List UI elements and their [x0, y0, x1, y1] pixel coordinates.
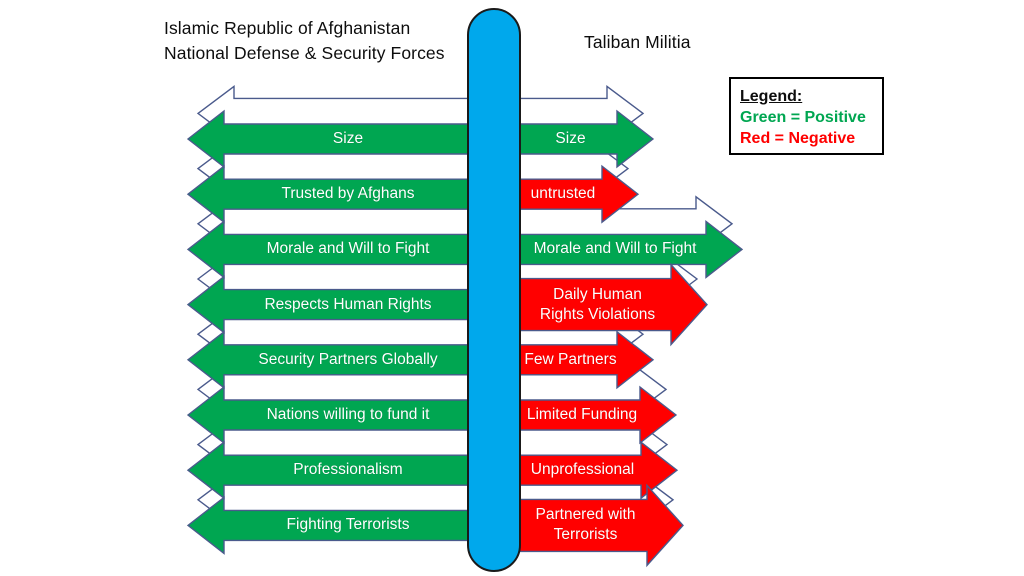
- comparison-arrow-right-7: [516, 442, 677, 498]
- comparison-arrow-left-6: [188, 387, 472, 443]
- comparison-arrow-left-8: [188, 497, 472, 553]
- white-spacer-arrow-left: [198, 252, 472, 306]
- white-spacer-arrow-left: [198, 197, 472, 251]
- legend-box: Legend: Green = Positive Red = Negative: [729, 77, 884, 155]
- white-spacer-arrow-right: [516, 86, 643, 140]
- comparison-arrow-left-2: [188, 166, 472, 222]
- white-spacer-arrow-left: [198, 86, 472, 140]
- white-spacer-arrow-left: [198, 418, 472, 472]
- comparison-arrow-right-2: [516, 166, 638, 222]
- comparison-arrow-left-7: [188, 442, 472, 498]
- arrow-label-left-7: Professionalism: [198, 444, 498, 496]
- comparison-arrow-right-6: [516, 387, 676, 443]
- white-spacer-arrow-left: [198, 473, 472, 527]
- white-spacer-arrow-right: [516, 473, 673, 527]
- comparison-arrow-right-1: [516, 111, 653, 167]
- arrow-label-left-6: Nations willing to fund it: [198, 389, 498, 441]
- arrow-label-left-3: Morale and Will to Fight: [198, 223, 498, 275]
- arrow-label-right-4: Daily HumanRights Violations: [500, 279, 695, 331]
- center-divider-pill: [467, 8, 521, 572]
- arrow-label-right-7: Unprofessional: [500, 444, 665, 496]
- white-spacer-arrow-right: [516, 307, 643, 361]
- legend-positive-entry: Green = Positive: [740, 107, 882, 128]
- arrow-label-left-2: Trusted by Afghans: [198, 168, 498, 220]
- arrow-label-right-1: Size: [500, 113, 641, 165]
- slide-canvas: Islamic Republic of Afghanistan National…: [0, 0, 1024, 576]
- comparison-arrow-left-4: [188, 277, 472, 333]
- legend-negative-entry: Red = Negative: [740, 128, 882, 149]
- arrow-label-left-4: Respects Human Rights: [198, 279, 498, 331]
- column-header-afghan-forces: Islamic Republic of Afghanistan National…: [164, 16, 445, 66]
- white-spacer-arrow-left: [198, 142, 472, 196]
- comparison-arrow-right-5: [516, 332, 653, 388]
- comparison-arrow-left-5: [188, 332, 472, 388]
- arrow-label-right-6: Limited Funding: [500, 389, 664, 441]
- column-header-taliban: Taliban Militia: [584, 30, 691, 55]
- white-spacer-arrow-right: [516, 197, 732, 251]
- white-spacer-arrow-right: [516, 142, 628, 196]
- comparison-arrow-right-3: [516, 221, 742, 277]
- arrow-label-left-1: Size: [198, 113, 498, 165]
- arrow-label-right-5: Few Partners: [500, 334, 641, 386]
- white-spacer-arrow-left: [198, 362, 472, 416]
- arrow-label-left-5: Security Partners Globally: [198, 334, 498, 386]
- arrow-label-left-8: Fighting Terrorists: [198, 499, 498, 551]
- white-spacer-arrow-right: [516, 252, 697, 306]
- comparison-arrow-left-1: [188, 111, 472, 167]
- comparison-arrow-right-4: [516, 265, 707, 345]
- arrow-label-right-8: Partnered withTerrorists: [500, 499, 671, 551]
- white-spacer-arrow-right: [516, 418, 667, 472]
- comparison-arrow-right-8: [516, 485, 683, 565]
- white-spacer-arrow-right: [516, 362, 666, 416]
- legend-title: Legend:: [740, 86, 882, 107]
- arrow-label-right-3: Morale and Will to Fight: [500, 223, 730, 275]
- comparison-arrow-left-3: [188, 221, 472, 277]
- white-spacer-arrow-left: [198, 307, 472, 361]
